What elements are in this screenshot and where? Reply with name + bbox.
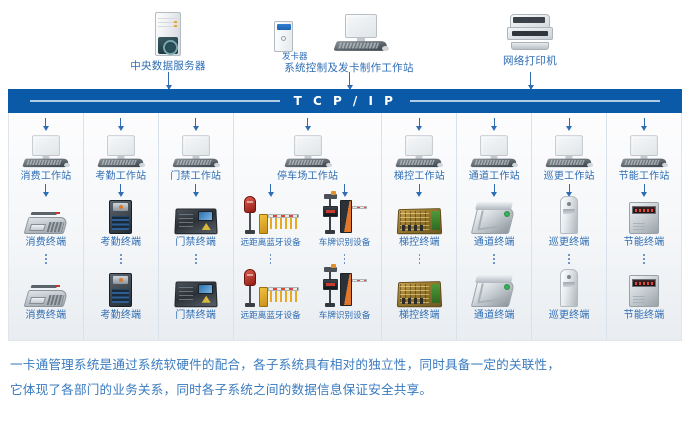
workstation-pc-icon (335, 14, 387, 52)
terminal-bluetooth-1[interactable]: 远距离蓝牙设备 (234, 184, 308, 250)
terminal-energy-2[interactable]: 节能终端 (624, 267, 665, 323)
arrow-bus-to-workstation (195, 118, 196, 127)
ellipsis-icon (493, 254, 495, 264)
column-parking[interactable]: 停车场工作站 远距离蓝牙设备 (234, 113, 383, 340)
attendance-panel-icon (109, 200, 132, 234)
arrow-bus-to-workstation (569, 118, 570, 127)
workstation-label: 梯控工作站 (394, 170, 445, 184)
terminal-label: 门禁终端 (175, 236, 216, 250)
terminal-elevator-1[interactable]: 梯控终端 (397, 194, 441, 250)
terminal-lpr-2[interactable]: 车牌识别设备 (308, 267, 382, 323)
column-attendance[interactable]: 考勤工作站 考勤终端 考勤终端 (84, 113, 159, 340)
network-topology-diagram: 中央数据服务器 发卡器 系统控制及发卡制作工作站 (0, 0, 690, 434)
arrow-workstation-to-terminal (45, 184, 46, 193)
terminal-channel-1[interactable]: 通道终端 (472, 194, 516, 250)
subsystem-grid: 消费工作站 消费终端 消费终端 考勤工作站 (8, 113, 682, 341)
arrow-bus-to-workstation (45, 118, 46, 127)
terminal-label: 节能终端 (624, 309, 665, 323)
turnstile-gate-icon (472, 200, 516, 234)
terminal-lpr-1[interactable]: 车牌识别设备 (308, 184, 382, 250)
terminal-attendance-1[interactable]: 考勤终端 (100, 194, 141, 250)
terminal-label: 通道终端 (474, 309, 515, 323)
terminal-label: 巡更终端 (549, 236, 590, 250)
terminal-patrol-1[interactable]: 巡更终端 (549, 194, 590, 250)
arrow-workstation-to-terminal (419, 184, 420, 193)
ellipsis-icon (45, 254, 47, 264)
top-device-row: 中央数据服务器 发卡器 系统控制及发卡制作工作站 (0, 0, 690, 89)
bus-rule-left (30, 100, 280, 102)
workstation-energy-saving[interactable]: 节能工作站 (618, 128, 670, 184)
terminal-label: 消费终端 (26, 236, 67, 250)
energy-meter-icon (629, 275, 659, 307)
connector-printer-to-bus (530, 72, 531, 89)
bluetooth-barrier-gate-icon (259, 281, 299, 307)
terminal-label: 巡更终端 (549, 309, 590, 323)
terminal-label: 梯控终端 (399, 236, 440, 250)
server-tower-icon (155, 12, 181, 56)
arrow-workstation-to-terminal (120, 184, 121, 193)
bus-label: T C P / I P (294, 94, 397, 108)
card-issuer-icon (274, 21, 293, 52)
arrow-workstation-to-terminal (344, 184, 345, 193)
door-access-plate-icon (175, 208, 217, 234)
terminal-label: 车牌识别设备 (319, 236, 371, 250)
workstation-pc-icon (285, 135, 330, 168)
printer-icon (507, 14, 553, 50)
column-energy-saving[interactable]: 节能工作站 节能终端 节能终端 (607, 113, 681, 340)
parking-terminal-row-1: 远距离蓝牙设备 车牌识别设备 (234, 184, 382, 250)
workstation-label: 门禁工作站 (170, 170, 221, 184)
ellipsis-icon (643, 254, 645, 264)
ellipsis-icon (120, 254, 122, 264)
pos-terminal-icon (26, 208, 66, 234)
energy-meter-icon (629, 202, 659, 234)
terminal-label: 通道终端 (474, 236, 515, 250)
terminal-channel-2[interactable]: 通道终端 (472, 267, 516, 323)
parking-ellipsis-row (234, 250, 382, 267)
terminal-label: 消费终端 (26, 309, 67, 323)
arrow-bus-to-workstation (419, 118, 420, 127)
ellipsis-icon (568, 254, 570, 264)
workstation-access-control[interactable]: 门禁工作站 (170, 128, 222, 184)
column-elevator-control[interactable]: 梯控工作站 梯控终端 梯控终端 (382, 113, 457, 340)
terminal-label: 梯控终端 (399, 309, 440, 323)
node-card-issuing-workstation[interactable]: 发卡器 系统控制及发卡制作工作站 (274, 8, 424, 75)
workstation-parking[interactable]: 停车场工作站 (277, 128, 338, 184)
node-label-network-printer: 网络打印机 (470, 55, 590, 68)
workstation-elevator-control[interactable]: 梯控工作站 (393, 128, 445, 184)
ellipsis-icon (344, 254, 346, 264)
column-access-control[interactable]: 门禁工作站 门禁终端 门禁终端 (159, 113, 234, 340)
patrol-pillar-icon (560, 269, 578, 307)
turnstile-gate-icon (472, 273, 516, 307)
diagram-caption: 一卡通管理系统是通过系统软硬件的配合，各子系统具有相对的独立性，同时具备一定的关… (10, 352, 676, 402)
workstation-channel[interactable]: 通道工作站 (468, 128, 520, 184)
workstation-label: 巡更工作站 (544, 170, 595, 184)
workstation-pc-icon (547, 135, 592, 168)
workstation-pc-icon (397, 135, 442, 168)
workstation-pc-icon (98, 135, 143, 168)
terminal-consumption-2[interactable]: 消费终端 (26, 267, 67, 323)
node-network-printer[interactable]: 网络打印机 (470, 14, 590, 68)
terminal-attendance-2[interactable]: 考勤终端 (100, 267, 141, 323)
workstation-label: 消费工作站 (20, 170, 71, 184)
terminal-label: 考勤终端 (100, 236, 141, 250)
arrow-workstation-to-terminal (494, 184, 495, 193)
controller-pcb-icon (397, 208, 441, 234)
controller-pcb-icon (397, 281, 441, 307)
bluetooth-barrier-gate-icon (259, 208, 299, 234)
ellipsis-icon (419, 254, 421, 264)
workstation-pc-icon (472, 135, 517, 168)
terminal-elevator-2[interactable]: 梯控终端 (397, 267, 441, 323)
terminal-access-control-1[interactable]: 门禁终端 (175, 194, 217, 250)
terminal-label: 车牌识别设备 (319, 309, 371, 323)
workstation-attendance[interactable]: 考勤工作站 (95, 128, 147, 184)
column-consumption[interactable]: 消费工作站 消费终端 消费终端 (9, 113, 84, 340)
door-access-plate-icon (175, 281, 217, 307)
workstation-label: 考勤工作站 (95, 170, 146, 184)
arrow-bus-to-workstation (120, 118, 121, 127)
bus-rule-right (410, 100, 660, 102)
column-patrol[interactable]: 巡更工作站 巡更终端 巡更终端 (532, 113, 607, 340)
parking-terminal-row-2: 远距离蓝牙设备 车牌识别设备 (234, 267, 382, 323)
patrol-pillar-icon (560, 196, 578, 234)
node-central-data-server[interactable]: 中央数据服务器 (113, 12, 223, 73)
workstation-pc-icon (24, 135, 69, 168)
terminal-label: 门禁终端 (175, 309, 216, 323)
arrow-bus-to-workstation (307, 118, 308, 127)
arrow-bus-to-workstation (644, 118, 645, 127)
workstation-consumption[interactable]: 消费工作站 (20, 128, 72, 184)
workstation-pc-icon (173, 135, 218, 168)
terminal-access-control-2[interactable]: 门禁终端 (175, 267, 217, 323)
license-plate-recognition-icon (323, 267, 367, 307)
workstation-label: 节能工作站 (619, 170, 670, 184)
arrow-workstation-to-terminal (270, 184, 271, 193)
terminal-label: 远距离蓝牙设备 (241, 309, 301, 323)
terminal-bluetooth-2[interactable]: 远距离蓝牙设备 (234, 267, 308, 323)
connector-server-to-bus (168, 72, 169, 89)
license-plate-recognition-icon (323, 194, 367, 234)
terminal-patrol-2[interactable]: 巡更终端 (549, 267, 590, 323)
arrow-bus-to-workstation (494, 118, 495, 127)
traffic-signal-icon (242, 196, 258, 234)
workstation-label: 通道工作站 (469, 170, 520, 184)
caption-line-1: 一卡通管理系统是通过系统软硬件的配合，各子系统具有相对的独立性，同时具备一定的关… (10, 352, 676, 377)
traffic-signal-icon (242, 269, 258, 307)
terminal-label: 考勤终端 (100, 309, 141, 323)
caption-line-2: 它体现了各部门的业务关系，同时各子系统之间的数据信息保证安全共享。 (10, 377, 676, 402)
connector-workstation-to-bus (349, 72, 350, 89)
pos-terminal-icon (26, 281, 66, 307)
terminal-consumption-1[interactable]: 消费终端 (26, 194, 67, 250)
arrow-workstation-to-terminal (195, 184, 196, 193)
workstation-label: 停车场工作站 (277, 170, 338, 184)
arrow-workstation-to-terminal (644, 184, 645, 193)
workstation-patrol[interactable]: 巡更工作站 (543, 128, 595, 184)
tcp-ip-backbone-bar: T C P / I P (8, 89, 682, 113)
column-channel-turnstile[interactable]: 通道工作站 通道终端 通道终端 (457, 113, 532, 340)
node-sublabel-card-issuer: 发卡器 (274, 52, 424, 62)
attendance-panel-icon (109, 273, 132, 307)
ellipsis-icon (195, 254, 197, 264)
workstation-pc-icon (622, 135, 667, 168)
ellipsis-icon (270, 254, 272, 264)
terminal-label: 节能终端 (624, 236, 665, 250)
arrow-workstation-to-terminal (569, 184, 570, 193)
terminal-energy-1[interactable]: 节能终端 (624, 194, 665, 250)
terminal-label: 远距离蓝牙设备 (241, 236, 301, 250)
